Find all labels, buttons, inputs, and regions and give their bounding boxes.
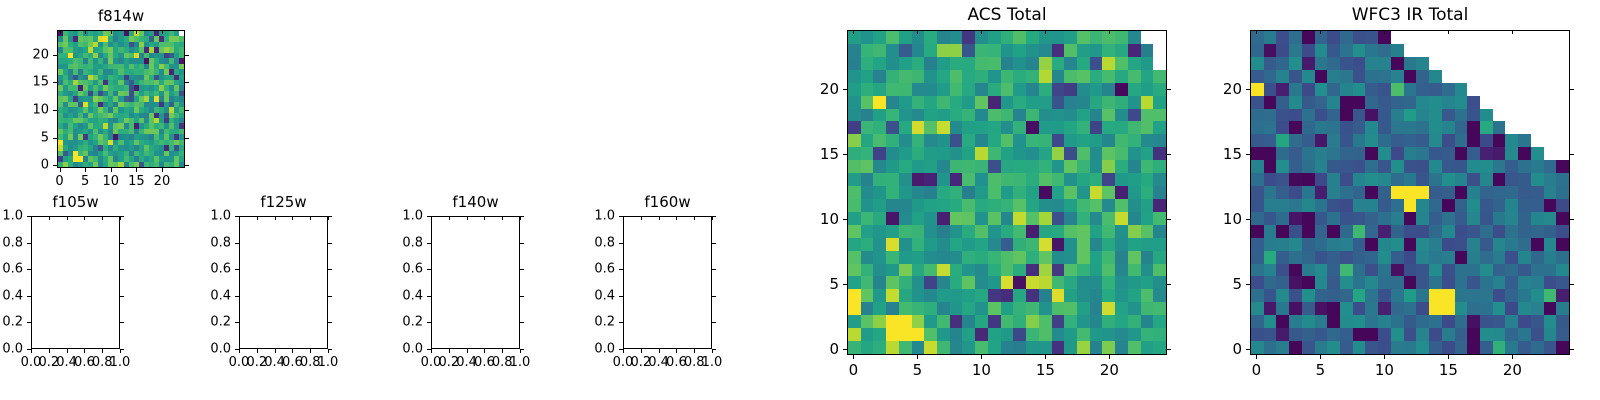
heatmap-cell (1416, 341, 1429, 354)
heatmap-cell (1128, 31, 1141, 44)
heatmap-cell (1064, 186, 1077, 199)
x-tick-top (659, 216, 660, 220)
heatmap-cell (1315, 147, 1328, 160)
heatmap-cell (1353, 276, 1366, 289)
heatmap-cell (1039, 186, 1052, 199)
x-tick (84, 349, 85, 353)
y-tick-label: 0.6 (555, 262, 615, 277)
heatmap-cell (1544, 289, 1557, 302)
heatmap-cell (1556, 341, 1569, 354)
y-tick-label: 1.0 (0, 209, 23, 224)
heatmap-cell (1480, 289, 1493, 302)
heatmap-cell (1251, 199, 1264, 212)
heatmap-cell (912, 341, 925, 354)
heatmap-cell (1289, 264, 1302, 277)
heatmap-cell (1327, 276, 1340, 289)
x-tick-top (275, 216, 276, 220)
heatmap-cell (899, 186, 912, 199)
heatmap-cell (1077, 96, 1090, 109)
heatmap-cell (1001, 264, 1014, 277)
heatmap-cell (1128, 251, 1141, 264)
heatmap-cell (1039, 96, 1052, 109)
heatmap-cell (1013, 70, 1026, 83)
heatmap-cell (1327, 70, 1340, 83)
heatmap-cell (1404, 328, 1417, 341)
y-tick-label: 0.2 (555, 315, 615, 330)
heatmap-cell (1026, 121, 1039, 134)
heatmap-cell (1090, 147, 1103, 160)
heatmap-cell (1391, 212, 1404, 225)
heatmap-cell (1480, 341, 1493, 354)
heatmap-cell (1353, 109, 1366, 122)
heatmap-cell (1251, 160, 1264, 173)
heatmap-cell (899, 121, 912, 134)
heatmap-cell (1416, 289, 1429, 302)
heatmap-cell (1115, 199, 1128, 212)
heatmap-cell (1531, 341, 1544, 354)
heatmap-cell (1302, 225, 1315, 238)
heatmap-cell (1264, 57, 1277, 70)
heatmap-cell (861, 302, 874, 315)
heatmap-cell (1013, 147, 1026, 160)
heatmap-cell (1064, 160, 1077, 173)
y-tick-label: 20 (1182, 80, 1242, 98)
heatmap-cell (1153, 57, 1166, 70)
heatmap-cell (1013, 225, 1026, 238)
heatmap-cell (1493, 225, 1506, 238)
heatmap-cell (1429, 96, 1442, 109)
heatmap-cell (962, 173, 975, 186)
heatmap-cell (1531, 147, 1544, 160)
heatmap-cell (1467, 302, 1480, 315)
y-tick-label: 0.6 (0, 262, 23, 277)
y-tick (843, 89, 847, 90)
heatmap-cell (1480, 134, 1493, 147)
heatmap-cell (1391, 276, 1404, 289)
heatmap-cell (1544, 238, 1557, 251)
heatmap-cell (1276, 264, 1289, 277)
heatmap-cell (937, 160, 950, 173)
heatmap-cell (1077, 276, 1090, 289)
heatmap-cell (950, 315, 963, 328)
heatmap-cell (1556, 289, 1569, 302)
heatmap-cell (1153, 212, 1166, 225)
heatmap-cell (988, 31, 1001, 44)
heatmap-cell (1289, 251, 1302, 264)
heatmap-cell (1416, 44, 1429, 57)
heatmap-cell (1153, 96, 1166, 109)
heatmap-cell (1467, 341, 1480, 354)
heatmap-cell (912, 121, 925, 134)
heatmap-cell (1505, 83, 1518, 96)
x-tick-label: 0 (849, 361, 859, 379)
heatmap-cell (1276, 251, 1289, 264)
heatmap-cell (1077, 173, 1090, 186)
y-tick-right (120, 243, 124, 244)
heatmap-cell (1518, 341, 1531, 354)
plot-area-f125w (239, 216, 328, 349)
heatmap-cell (886, 212, 899, 225)
heatmap-wfc3-ir-total (1251, 31, 1569, 354)
heatmap-cell (1115, 134, 1128, 147)
heatmap-cell (861, 225, 874, 238)
heatmap-cell (861, 238, 874, 251)
heatmap-cell (1391, 134, 1404, 147)
heatmap-cell (1404, 121, 1417, 134)
x-tick (484, 349, 485, 353)
heatmap-cell (1365, 147, 1378, 160)
heatmap-cell (1315, 276, 1328, 289)
heatmap-cell (1340, 264, 1353, 277)
heatmap-cell (899, 134, 912, 147)
heatmap-cell (1556, 134, 1569, 147)
heatmap-cell (1391, 70, 1404, 83)
heatmap-cell (1026, 96, 1039, 109)
heatmap-cell (937, 70, 950, 83)
heatmap-cell (1505, 70, 1518, 83)
heatmap-cell (899, 160, 912, 173)
heatmap-cell (912, 238, 925, 251)
heatmap-cell (1467, 328, 1480, 341)
heatmap-cell (1115, 44, 1128, 57)
heatmap-cell (912, 147, 925, 160)
heatmap-cell (886, 186, 899, 199)
heatmap-cell (1039, 328, 1052, 341)
heatmap-cell (1416, 57, 1429, 70)
heatmap-cell (1001, 160, 1014, 173)
heatmap-cell (1276, 199, 1289, 212)
heatmap-cell (924, 57, 937, 70)
heatmap-cell (1327, 315, 1340, 328)
heatmap-cell (1128, 212, 1141, 225)
y-tick (1246, 154, 1250, 155)
heatmap-cell (1467, 147, 1480, 160)
heatmap-cell (1264, 328, 1277, 341)
heatmap-cell (1251, 109, 1264, 122)
heatmap-cell (924, 44, 937, 57)
heatmap-cell (1052, 289, 1065, 302)
heatmap-cell (848, 302, 861, 315)
heatmap-cell (1404, 302, 1417, 315)
panel-title-f105w: f105w (31, 193, 120, 211)
panel-wfc3-ir-total: WFC3 IR Total0510152005101520 (1250, 0, 1570, 400)
heatmap-cell (962, 225, 975, 238)
heatmap-cell (1302, 212, 1315, 225)
heatmap-cell (873, 225, 886, 238)
heatmap-cell (1315, 70, 1328, 83)
heatmap-cell (1001, 186, 1014, 199)
x-tick-label: 1.0 (702, 355, 723, 370)
heatmap-cell (1416, 121, 1429, 134)
heatmap-cell (1001, 289, 1014, 302)
heatmap-cell (962, 276, 975, 289)
heatmap-cell (1115, 160, 1128, 173)
y-tick (427, 322, 431, 323)
heatmap-cell (1077, 31, 1090, 44)
heatmap-cell (861, 121, 874, 134)
x-tick-top (467, 216, 468, 220)
heatmap-cell (1039, 238, 1052, 251)
heatmap-cell (1353, 70, 1366, 83)
heatmap-cell (1001, 212, 1014, 225)
heatmap-cell (1378, 160, 1391, 173)
heatmap-cell (1315, 289, 1328, 302)
heatmap-cell (1531, 315, 1544, 328)
heatmap-cell (1264, 264, 1277, 277)
y-tick (427, 296, 431, 297)
y-tick-label: 0.4 (171, 288, 231, 303)
heatmap-cell (861, 212, 874, 225)
heatmap-cell (1276, 109, 1289, 122)
heatmap-cell (1429, 276, 1442, 289)
heatmap-cell (1039, 276, 1052, 289)
heatmap-cell (950, 341, 963, 354)
heatmap-cell (1365, 276, 1378, 289)
y-tick-right (520, 296, 524, 297)
y-tick-label: 10 (779, 210, 839, 228)
heatmap-cell (899, 225, 912, 238)
heatmap-cell (1442, 44, 1455, 57)
heatmap-cell (1404, 44, 1417, 57)
heatmap-cell (1052, 212, 1065, 225)
y-tick (27, 269, 31, 270)
heatmap-cell (1404, 147, 1417, 160)
heatmap-cell (1556, 225, 1569, 238)
heatmap-cell (1013, 121, 1026, 134)
y-tick (427, 349, 431, 350)
heatmap-cell (1544, 31, 1557, 44)
x-tick (292, 349, 293, 353)
heatmap-cell (1302, 134, 1315, 147)
heatmap-cell (988, 186, 1001, 199)
heatmap-cell (1302, 160, 1315, 173)
heatmap-cell (1365, 341, 1378, 354)
heatmap-cell (1416, 315, 1429, 328)
heatmap-cell (1378, 212, 1391, 225)
y-tick (619, 216, 623, 217)
y-tick (619, 349, 623, 350)
heatmap-cell (1039, 199, 1052, 212)
heatmap-cell (1416, 302, 1429, 315)
heatmap-cell (1391, 147, 1404, 160)
heatmap-cell (1544, 173, 1557, 186)
heatmap-cell (1442, 160, 1455, 173)
heatmap-cell (1480, 199, 1493, 212)
heatmap-cell (886, 109, 899, 122)
heatmap-cell (1378, 134, 1391, 147)
heatmap-cell (1404, 173, 1417, 186)
heatmap-cell (1505, 199, 1518, 212)
heatmap-cell (1141, 31, 1154, 44)
heatmap-cell (1493, 44, 1506, 57)
heatmap-cell (1365, 160, 1378, 173)
heatmap-cell (1544, 276, 1557, 289)
heatmap-cell (1153, 173, 1166, 186)
heatmap-cell (1544, 44, 1557, 57)
heatmap-cell (1378, 264, 1391, 277)
heatmap-cell (1416, 147, 1429, 160)
heatmap-cell (1077, 44, 1090, 57)
heatmap-cell (1115, 173, 1128, 186)
heatmap-cell (1493, 31, 1506, 44)
x-tick-label: 15 (1036, 361, 1055, 379)
heatmap-cell (1531, 264, 1544, 277)
heatmap-cell (1365, 134, 1378, 147)
y-tick (427, 216, 431, 217)
heatmap-cell (1365, 83, 1378, 96)
x-tick-label: 20 (1100, 361, 1119, 379)
y-tick-label: 0.0 (363, 342, 423, 357)
heatmap-cell (1556, 302, 1569, 315)
heatmap-cell (1493, 147, 1506, 160)
heatmap-cell (950, 70, 963, 83)
heatmap-cell (1505, 186, 1518, 199)
heatmap-cell (1442, 238, 1455, 251)
heatmap-cell (1102, 199, 1115, 212)
panel-title-f160w: f160w (623, 193, 712, 211)
heatmap-cell (975, 315, 988, 328)
heatmap-cell (1102, 302, 1115, 315)
y-tick-right (328, 296, 332, 297)
heatmap-cell (912, 134, 925, 147)
heatmap-cell (1153, 289, 1166, 302)
heatmap-cell (1289, 109, 1302, 122)
heatmap-cell (1052, 134, 1065, 147)
y-tick-label: 0.2 (171, 315, 231, 330)
heatmap-cell (1276, 341, 1289, 354)
heatmap-cell (1077, 315, 1090, 328)
heatmap-cell (1340, 31, 1353, 44)
heatmap-cell (1518, 134, 1531, 147)
heatmap-cell (1077, 186, 1090, 199)
heatmap-cell (1493, 173, 1506, 186)
y-tick-label: 0.0 (0, 342, 23, 357)
heatmap-cell (1518, 31, 1531, 44)
heatmap-cell (1039, 121, 1052, 134)
heatmap-cell (1340, 186, 1353, 199)
heatmap-cell (1090, 44, 1103, 57)
heatmap-cell (937, 31, 950, 44)
x-tick-top (31, 216, 32, 220)
heatmap-cell (1531, 173, 1544, 186)
heatmap-cell (1064, 70, 1077, 83)
heatmap-cell (975, 276, 988, 289)
heatmap-cell (1013, 57, 1026, 70)
heatmap-cell (1141, 264, 1154, 277)
heatmap-cell (1455, 186, 1468, 199)
heatmap-cell (1429, 57, 1442, 70)
heatmap-cell (1518, 276, 1531, 289)
heatmap-cell (1455, 315, 1468, 328)
y-tick-right (1167, 154, 1171, 155)
heatmap-cell (1064, 341, 1077, 354)
heatmap-cell (1455, 57, 1468, 70)
heatmap-cell (1531, 276, 1544, 289)
heatmap-cell (1153, 264, 1166, 277)
heatmap-cell (1153, 341, 1166, 354)
heatmap-cell (1102, 96, 1115, 109)
heatmap-cell (1013, 315, 1026, 328)
x-tick-top (917, 30, 918, 34)
heatmap-cell (1455, 31, 1468, 44)
heatmap-cell (873, 251, 886, 264)
heatmap-cell (1544, 302, 1557, 315)
heatmap-cell (1001, 147, 1014, 160)
heatmap-cell (1404, 57, 1417, 70)
heatmap-cell (950, 160, 963, 173)
heatmap-cell (1480, 276, 1493, 289)
heatmap-cell (886, 238, 899, 251)
x-tick (641, 349, 642, 353)
heatmap-cell (1289, 276, 1302, 289)
heatmap-cell (1340, 173, 1353, 186)
heatmap-cell (962, 238, 975, 251)
x-tick (136, 168, 137, 172)
heatmap-cell (937, 199, 950, 212)
heatmap-cell (1001, 109, 1014, 122)
y-tick-label: 15 (1182, 145, 1242, 163)
y-tick-right (1167, 89, 1171, 90)
heatmap-cell (1026, 173, 1039, 186)
heatmap-cell (1141, 302, 1154, 315)
heatmap-cell (1429, 134, 1442, 147)
heatmap-cell (1039, 341, 1052, 354)
heatmap-cell (1442, 212, 1455, 225)
x-tick (239, 349, 240, 353)
heatmap-cell (937, 341, 950, 354)
y-tick (843, 154, 847, 155)
heatmap-cell (1353, 96, 1366, 109)
heatmap-cell (1442, 341, 1455, 354)
heatmap-cell (1531, 186, 1544, 199)
y-tick-right (120, 269, 124, 270)
heatmap-cell (1090, 341, 1103, 354)
heatmap-cell (1315, 83, 1328, 96)
plot-area-acs-total (847, 30, 1167, 355)
heatmap-cell (873, 70, 886, 83)
heatmap-cell (1544, 199, 1557, 212)
heatmap-cell (1404, 96, 1417, 109)
heatmap-cell (1102, 160, 1115, 173)
heatmap-cell (1480, 173, 1493, 186)
heatmap-cell (1505, 212, 1518, 225)
x-tick-top (431, 216, 432, 220)
heatmap-cell (1102, 173, 1115, 186)
heatmap-cell (1128, 186, 1141, 199)
heatmap-cell (1518, 289, 1531, 302)
heatmap-cell (1001, 225, 1014, 238)
heatmap-cell (1518, 44, 1531, 57)
heatmap-cell (1391, 264, 1404, 277)
heatmap-cell (1064, 57, 1077, 70)
heatmap-cell (1102, 276, 1115, 289)
heatmap-cell (1391, 173, 1404, 186)
heatmap-cell (962, 315, 975, 328)
heatmap-cell (1442, 173, 1455, 186)
y-tick-right (1570, 89, 1574, 90)
heatmap-cell (1153, 199, 1166, 212)
heatmap-cell (1556, 328, 1569, 341)
x-tick-top (257, 216, 258, 220)
heatmap-cell (912, 199, 925, 212)
heatmap-cell (1102, 341, 1115, 354)
heatmap-cell (848, 225, 861, 238)
y-tick-right (520, 322, 524, 323)
heatmap-cell (1455, 289, 1468, 302)
x-tick-top (1045, 30, 1046, 34)
heatmap-cell (1276, 276, 1289, 289)
heatmap-cell (1090, 83, 1103, 96)
